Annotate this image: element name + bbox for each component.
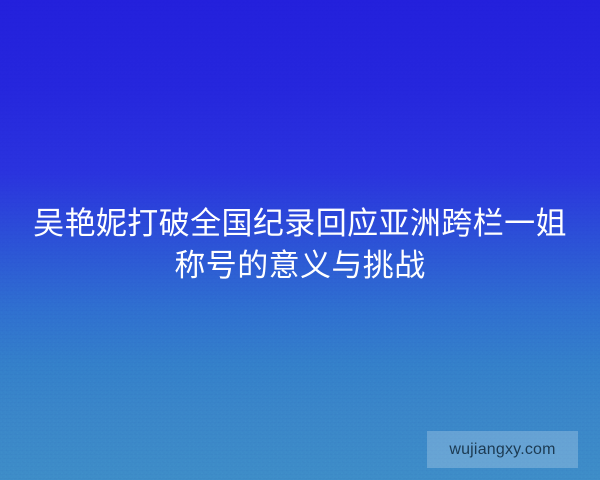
watermark-badge: wujiangxy.com — [427, 431, 578, 468]
watermark-label: wujiangxy.com — [449, 442, 555, 458]
page-title: 吴艳妮打破全国纪录回应亚洲跨栏一姐称号的意义与挑战 — [30, 203, 570, 287]
article-title-card: 吴艳妮打破全国纪录回应亚洲跨栏一姐称号的意义与挑战 wujiangxy.com — [0, 0, 600, 480]
